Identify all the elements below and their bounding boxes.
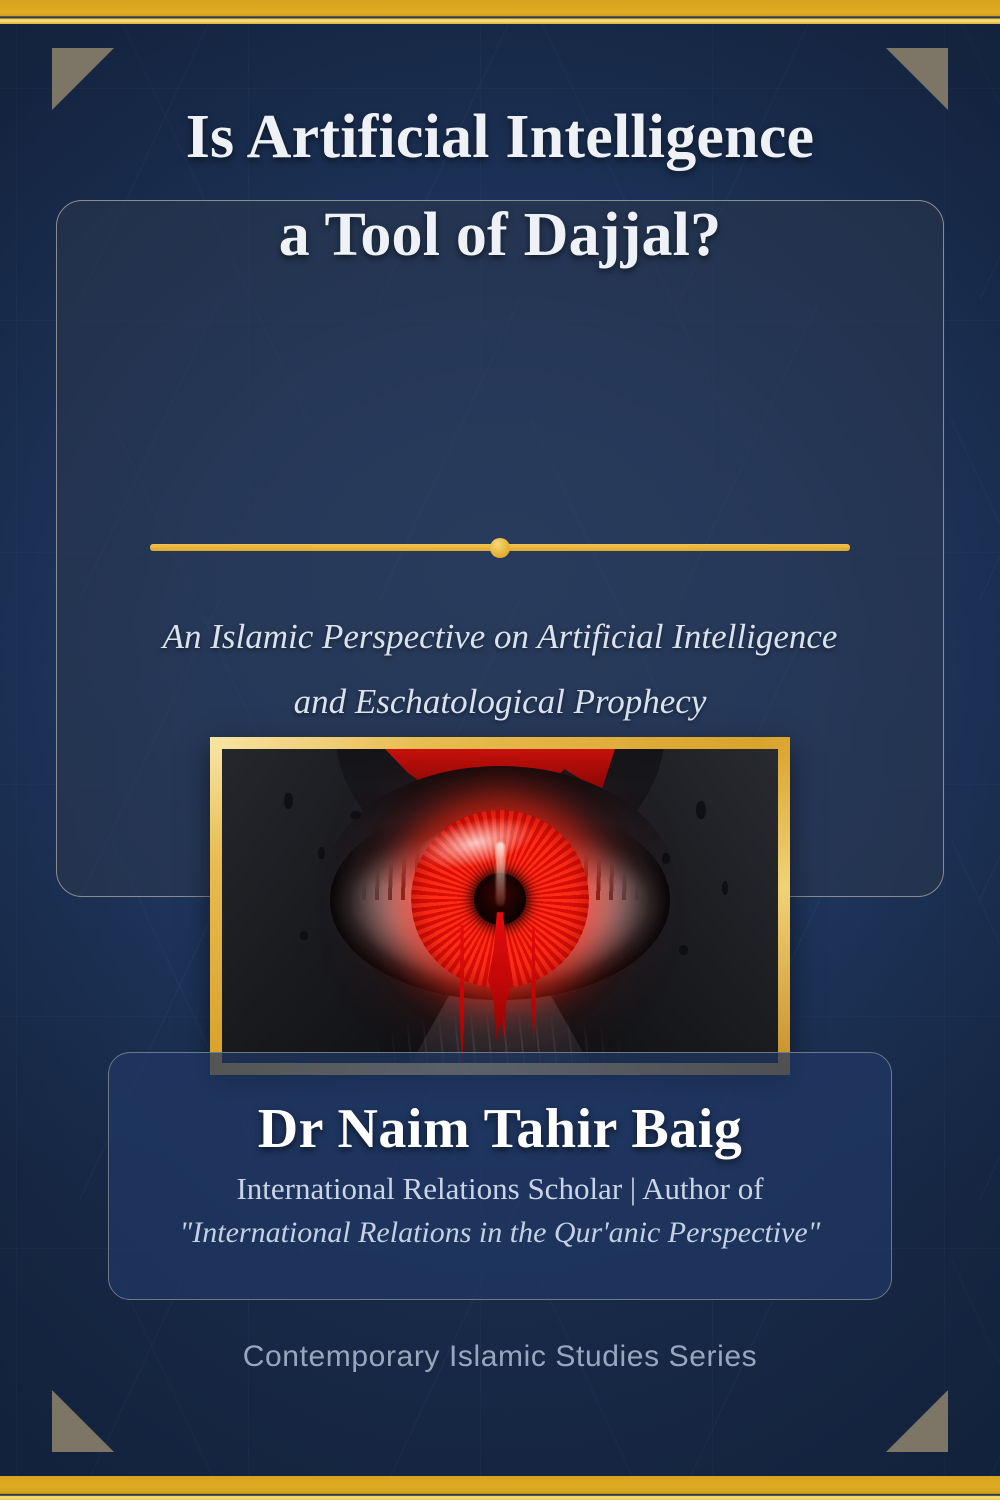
author-role: International Relations Scholar | Author… — [0, 1168, 1000, 1210]
corner-ornament-bottom-right — [886, 1390, 948, 1452]
artwork-speck — [318, 847, 325, 859]
page-title: Is Artificial Intelligence a Tool of Daj… — [0, 88, 1000, 284]
artwork-speck — [662, 853, 670, 864]
divider-dot-icon — [490, 538, 510, 558]
artwork-speck — [722, 881, 728, 895]
subtitle: An Islamic Perspective on Artificial Int… — [70, 604, 930, 734]
gold-divider — [150, 544, 850, 551]
author-name: Dr Naim Tahir Baig — [0, 1094, 1000, 1164]
title-line-2: a Tool of Dajjal? — [0, 186, 1000, 284]
artwork-speck — [300, 931, 308, 940]
corner-ornament-bottom-left — [52, 1390, 114, 1452]
artwork-speck — [350, 811, 361, 819]
author-previous-work: "International Relations in the Qur'anic… — [0, 1212, 1000, 1254]
cover-artwork-frame — [210, 737, 790, 1075]
series-label: Contemporary Islamic Studies Series — [0, 1340, 1000, 1374]
title-line-1: Is Artificial Intelligence — [0, 88, 1000, 186]
cover-artwork — [222, 749, 778, 1063]
subtitle-line-1: An Islamic Perspective on Artificial Int… — [70, 604, 930, 669]
artwork-cheek-texture — [330, 943, 670, 1063]
artwork-speck — [284, 793, 293, 809]
top-gold-bar — [0, 0, 1000, 24]
corner-ornament-top-left — [52, 48, 114, 110]
book-cover: Is Artificial Intelligence a Tool of Daj… — [0, 0, 1000, 1500]
artwork-speck — [696, 801, 706, 819]
bottom-gold-bar — [0, 1476, 1000, 1500]
artwork-speck — [679, 945, 688, 955]
subtitle-line-2: and Eschatological Prophecy — [70, 669, 930, 734]
corner-ornament-top-right — [886, 48, 948, 110]
